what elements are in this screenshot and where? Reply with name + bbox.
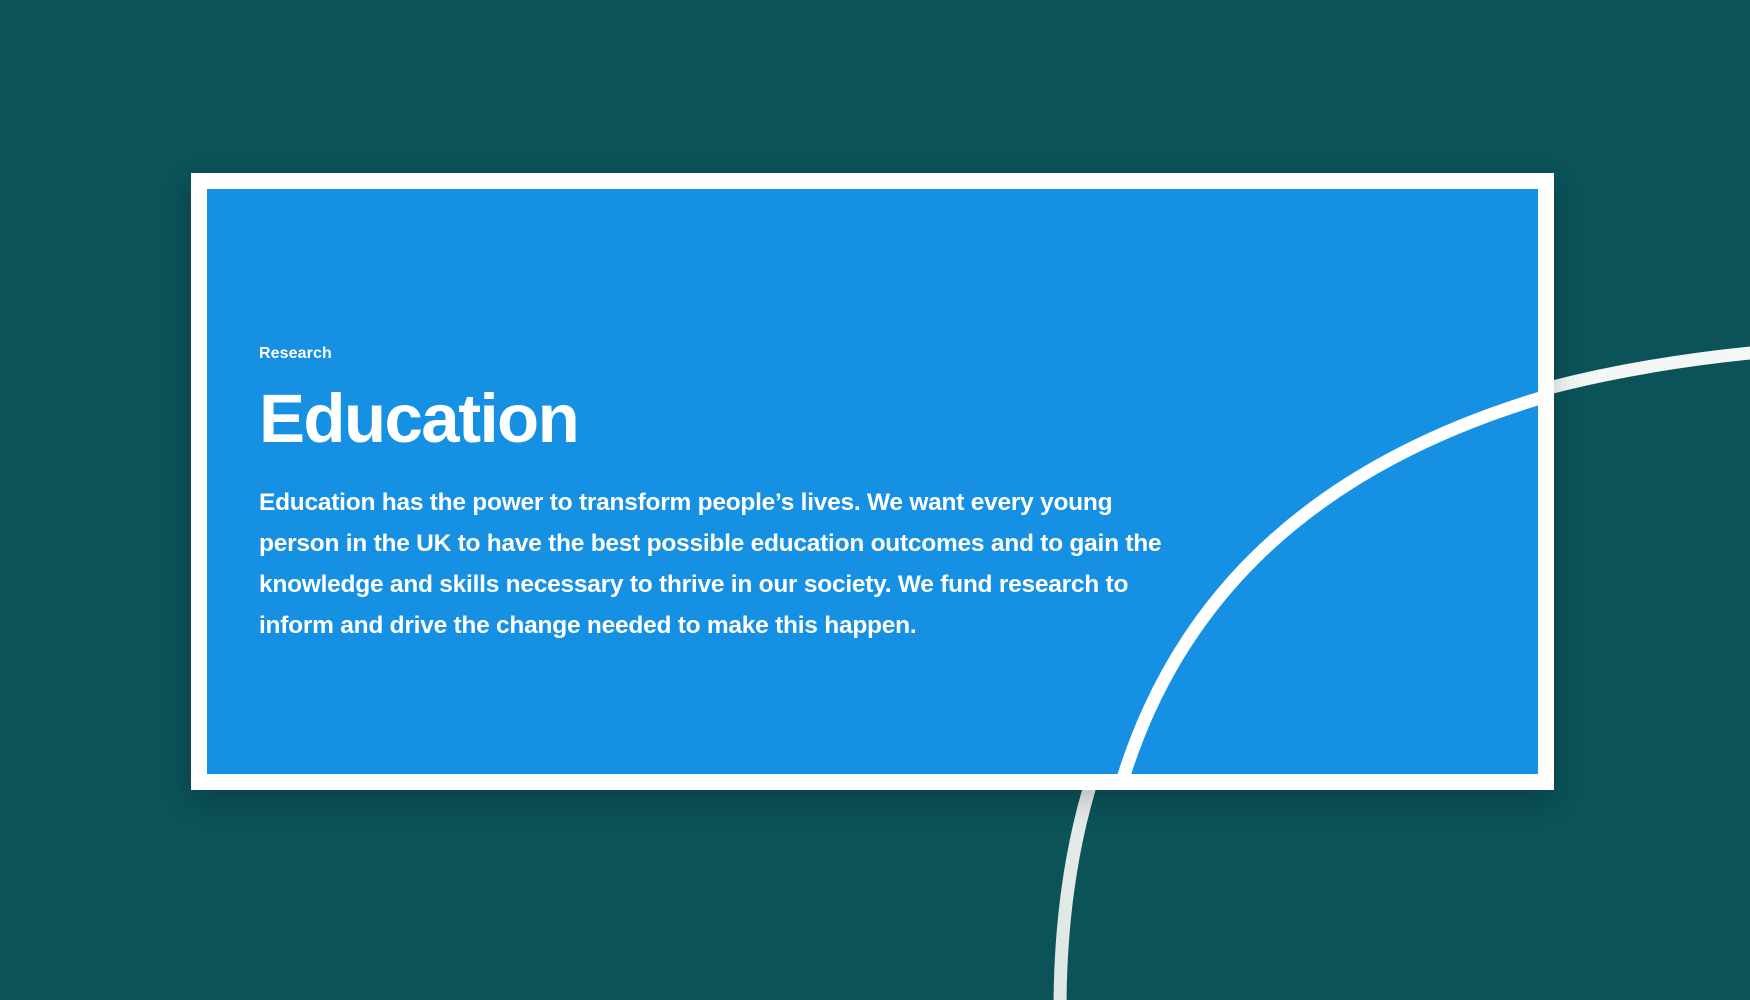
card-panel: Research Education Education has the pow… — [207, 189, 1538, 774]
page-title: Education — [259, 384, 1169, 454]
card-content: Research Education Education has the pow… — [259, 344, 1169, 646]
card-body-text: Education has the power to transform peo… — [259, 482, 1169, 646]
card-eyebrow: Research — [259, 344, 1169, 363]
feature-card: Research Education Education has the pow… — [191, 173, 1554, 790]
page-root: Research Education Education has the pow… — [0, 0, 1750, 1000]
